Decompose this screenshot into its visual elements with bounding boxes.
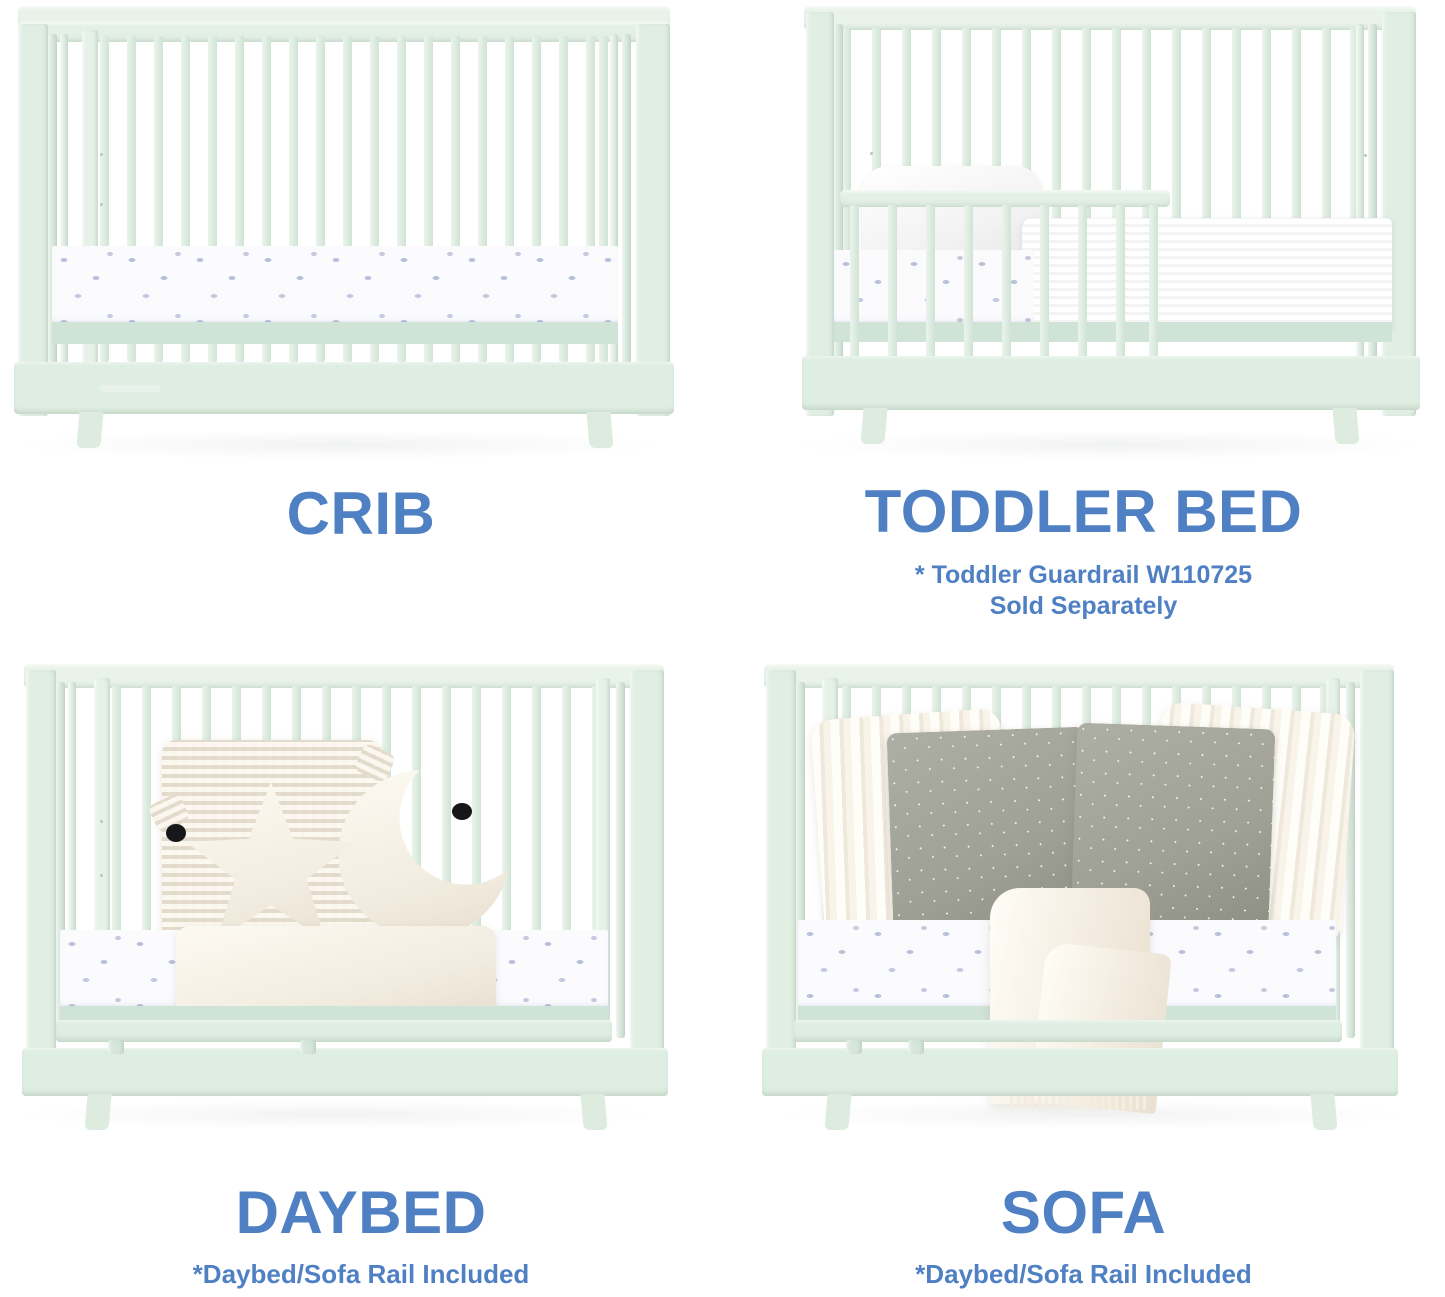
toddler-bed-title: TODDLER BED bbox=[722, 482, 1445, 542]
sofa-caption: SOFA *Daybed/Sofa Rail Included bbox=[722, 1183, 1445, 1291]
sofa-post-left bbox=[766, 670, 796, 1082]
daybed-moon-eye bbox=[452, 803, 472, 820]
toddler-bed-note: * Toddler Guardrail W110725 Sold Separat… bbox=[722, 560, 1445, 621]
panel-toddler-bed: TODDLER BED * Toddler Guardrail W110725 … bbox=[722, 0, 1445, 648]
crib-title: CRIB bbox=[0, 484, 722, 544]
daybed-post-right bbox=[630, 670, 664, 1082]
daybed-post-left bbox=[26, 670, 56, 1082]
crib-caption: CRIB bbox=[0, 484, 722, 544]
sofa-leg-right bbox=[1310, 1094, 1337, 1130]
crib-leg-right bbox=[586, 412, 613, 448]
sofa-note: *Daybed/Sofa Rail Included bbox=[722, 1259, 1445, 1291]
crib-post-right-inner bbox=[622, 34, 631, 374]
daybed-star-eye bbox=[166, 824, 186, 842]
crib-post-right bbox=[636, 24, 670, 416]
toddler-screw-2 bbox=[1364, 154, 1367, 157]
crib-leg-left bbox=[76, 412, 103, 448]
panel-daybed: DAYBED *Daybed/Sofa Rail Included bbox=[0, 648, 722, 1297]
daybed-post-right-in bbox=[616, 682, 625, 1038]
sofa-title: SOFA bbox=[722, 1183, 1445, 1243]
crib-post-left bbox=[18, 24, 48, 416]
sofa-leg-left bbox=[824, 1094, 851, 1130]
panel-sofa: SOFA *Daybed/Sofa Rail Included bbox=[722, 648, 1445, 1297]
crib-screw-upper bbox=[100, 153, 103, 156]
sofa-front-rail bbox=[794, 1020, 1342, 1042]
daybed-screw-upper bbox=[100, 820, 103, 823]
daybed-rail-spacer-2 bbox=[300, 1040, 316, 1054]
crib-mattress bbox=[52, 246, 618, 324]
daybed-folded-blanket bbox=[176, 926, 496, 1018]
daybed-leg-right bbox=[580, 1094, 607, 1130]
toddler-top-rail-far bbox=[804, 6, 1416, 30]
panel-crib: CRIB bbox=[0, 0, 722, 648]
daybed-note: *Daybed/Sofa Rail Included bbox=[0, 1259, 722, 1291]
daybed-front-rail bbox=[56, 1020, 612, 1042]
sofa-rail-spacer-2 bbox=[908, 1040, 924, 1054]
toddler-leg-right bbox=[1332, 408, 1359, 444]
sofa-top-rail bbox=[764, 664, 1394, 688]
daybed-top-rail bbox=[24, 664, 664, 688]
conversion-infographic: CRIB bbox=[0, 0, 1445, 1297]
toddler-bed-note-line1: * Toddler Guardrail W110725 bbox=[915, 561, 1252, 589]
toddler-base-rail bbox=[802, 356, 1420, 410]
toddler-screw bbox=[870, 152, 873, 155]
daybed-caption: DAYBED *Daybed/Sofa Rail Included bbox=[0, 1183, 722, 1291]
sofa-rail-spacer-1 bbox=[846, 1040, 862, 1054]
sofa-post-right bbox=[1360, 670, 1394, 1082]
daybed-leg-left bbox=[84, 1094, 111, 1130]
daybed-moon-pillow bbox=[338, 770, 510, 938]
daybed-base-rail bbox=[22, 1048, 668, 1096]
crib-mattress-base bbox=[52, 322, 618, 344]
crib-screw-lower bbox=[100, 203, 103, 206]
toddler-leg-left bbox=[860, 408, 887, 444]
toddler-bed-caption: TODDLER BED * Toddler Guardrail W110725 … bbox=[722, 482, 1445, 621]
toddler-bed-note-line2: Sold Separately bbox=[990, 592, 1178, 620]
toddler-guardrail-slats bbox=[850, 205, 1160, 357]
daybed-screw-lower bbox=[100, 874, 103, 877]
sofa-base-rail bbox=[762, 1048, 1398, 1096]
daybed-title: DAYBED bbox=[0, 1183, 722, 1243]
daybed-rail-spacer-1 bbox=[108, 1040, 124, 1054]
